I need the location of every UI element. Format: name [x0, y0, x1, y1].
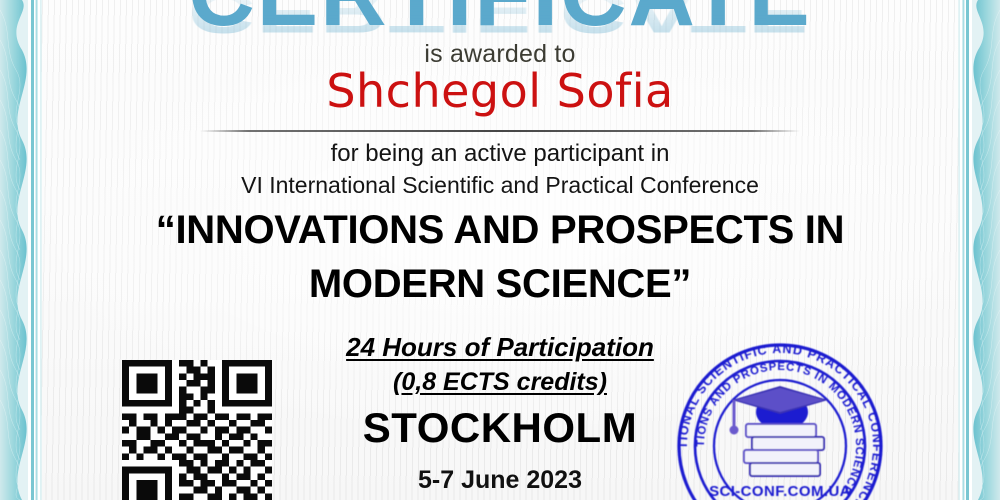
conference-line: VI International Scientific and Practica…	[44, 172, 956, 199]
participation-line: for being an active participant in	[44, 140, 956, 168]
books-icon	[744, 424, 824, 476]
name-divider-rule	[200, 130, 800, 132]
qr-code[interactable]	[122, 360, 272, 500]
conference-title-line-1: “INNOVATIONS AND PROSPECTS IN	[44, 208, 956, 253]
decorative-border-left	[0, 0, 44, 500]
seal-website-text: SCI-CONF.COM.UA	[709, 483, 851, 500]
conference-title-line-2: MODERN SCIENCE”	[44, 262, 956, 307]
certificate-document: CERTIFICATE CERTIFICATE is awarded to Sh…	[0, 0, 1000, 500]
decorative-border-right	[956, 0, 1000, 500]
conference-seal: INTERNATIONAL SCIENTIFIC AND PRACTICAL C…	[672, 338, 888, 500]
recipient-name: Shchegol Sofia	[44, 64, 956, 118]
